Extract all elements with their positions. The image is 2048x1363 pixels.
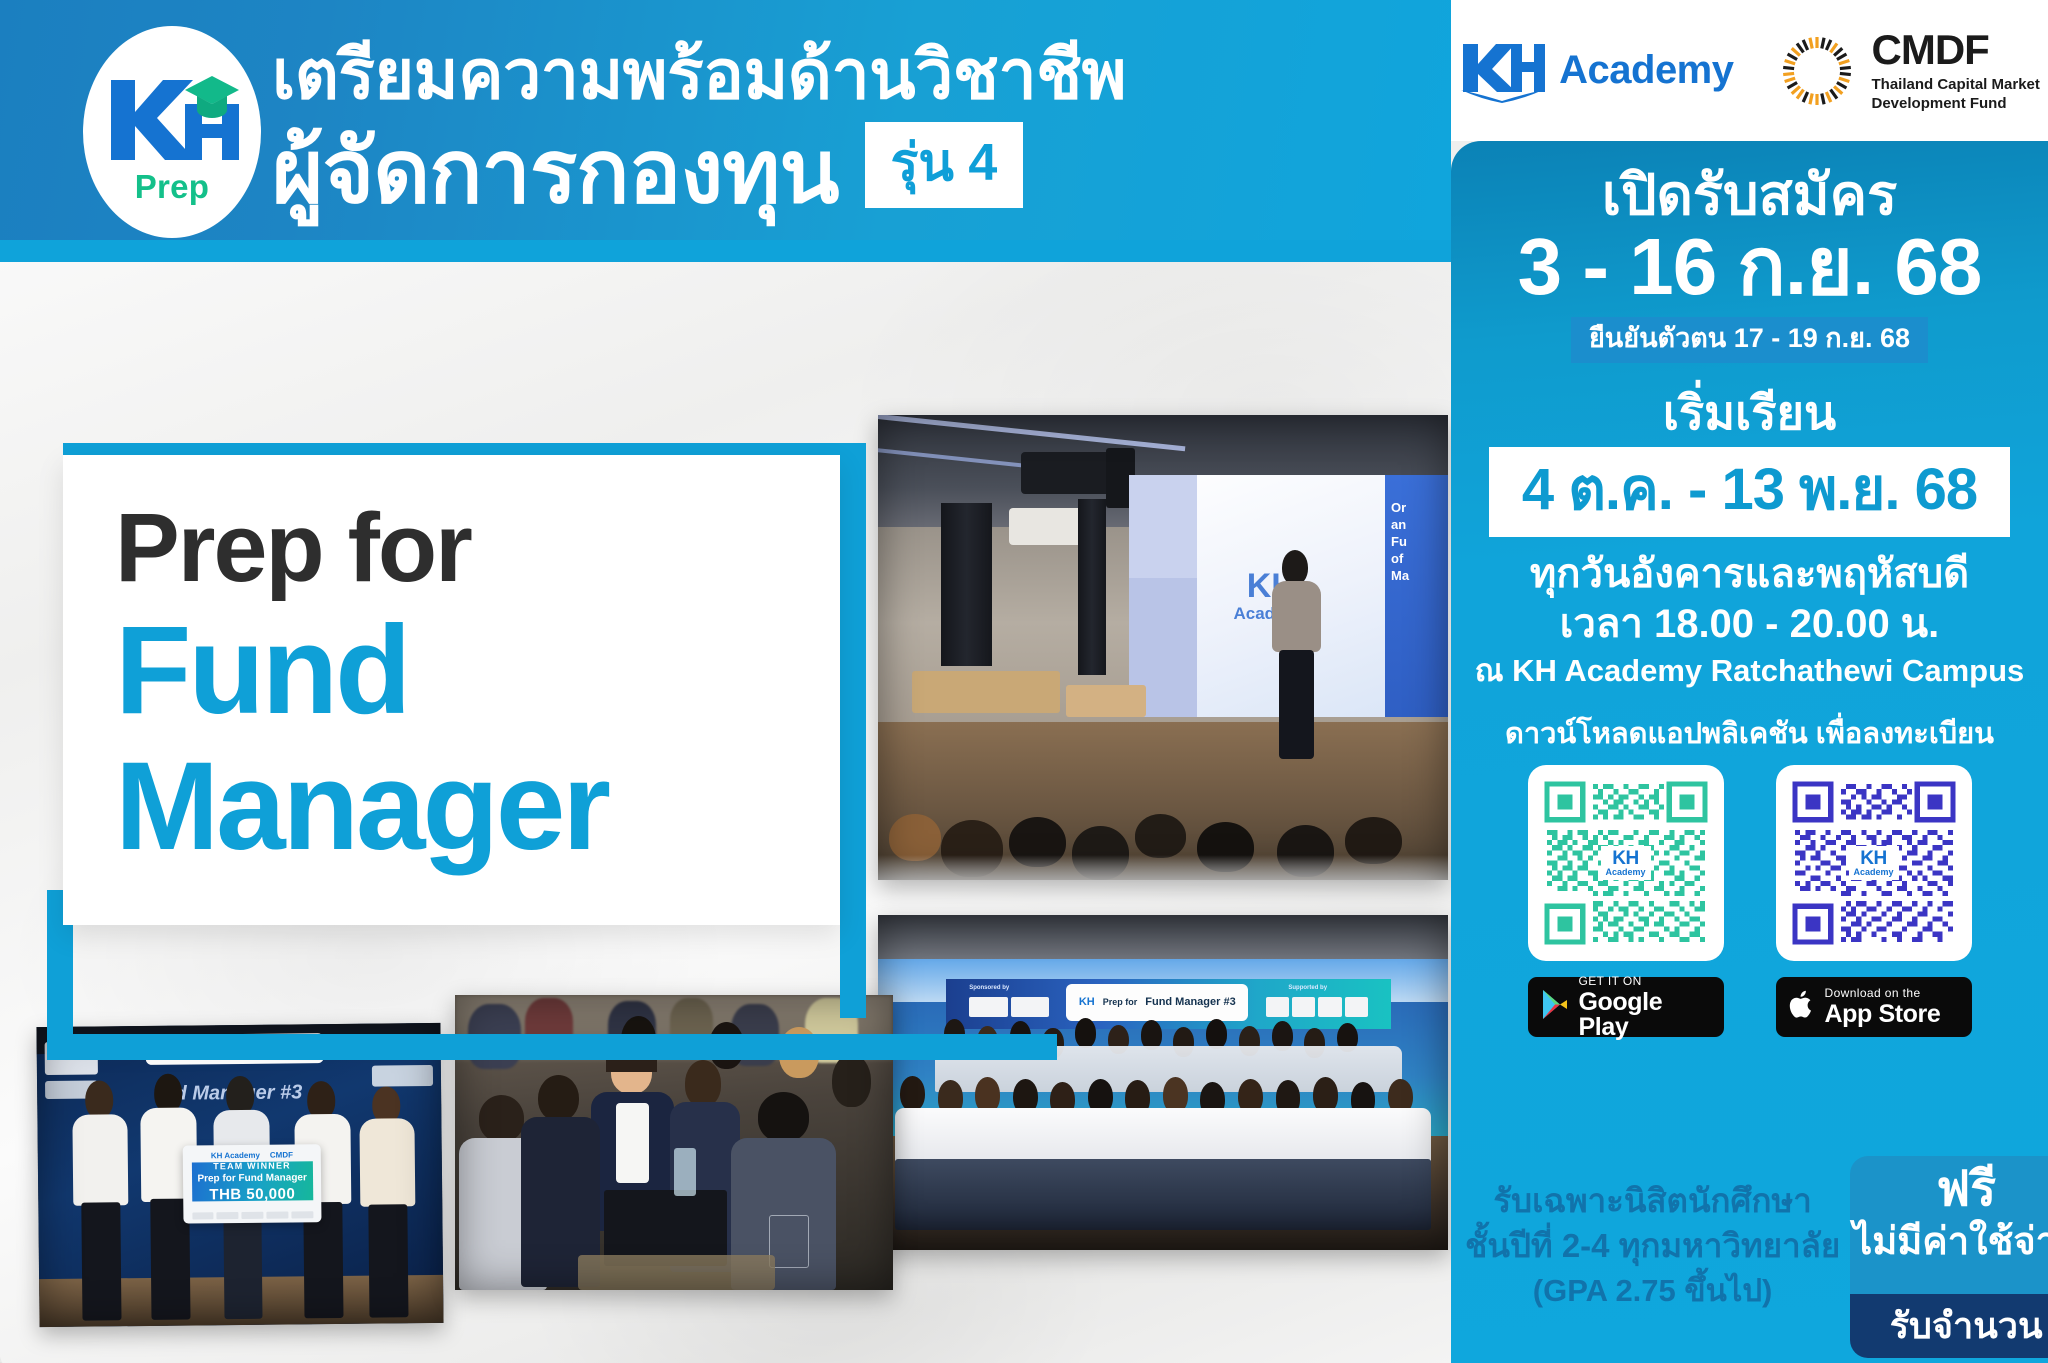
kh-prep-logo-word: Prep xyxy=(135,168,210,206)
cmdf-logo: CMDF Thailand Capital Market Development… xyxy=(1778,29,2040,113)
cmdf-subtitle-2: Development Fund xyxy=(1872,94,2040,113)
qr-apple-center-logo: KH Academy xyxy=(1848,846,1898,880)
eligibility-criteria: รับเฉพาะนิสิตนักศึกษา ชั้นปีที่ 2-4 ทุกม… xyxy=(1451,1146,1850,1363)
google-play-badge[interactable]: GET IT ON Google Play xyxy=(1528,977,1724,1037)
qr-code-row: KH Academy xyxy=(1469,765,2030,961)
poster-root: KH Academy Or an Fu of Ma xyxy=(0,0,2048,1363)
cheque-kh-logo: KH Academy xyxy=(211,1150,260,1160)
cheque-program-name: Prep for Fund Manager xyxy=(192,1172,313,1184)
registration-open-date: 3 - 16 ก.ย. 68 xyxy=(1469,223,2030,311)
kh-prep-logo: Prep xyxy=(83,26,261,238)
eligibility-strip: รับเฉพาะนิสิตนักศึกษา ชั้นปีที่ 2-4 ทุกม… xyxy=(1451,1146,2048,1363)
eligibility-line-1: รับเฉพาะนิสิตนักศึกษา xyxy=(1465,1178,1840,1223)
screen-text-4: of xyxy=(1391,550,1409,567)
cmdf-ring-icon xyxy=(1778,32,1856,110)
title-card: Prep for Fund Manager xyxy=(63,455,840,925)
google-play-small-label: GET IT ON xyxy=(1579,975,1711,987)
free-badge-group: ฟรี ไม่มีค่าใช้จ่าย รับจำนวนจำกัด xyxy=(1850,1146,2048,1363)
group-banner-sponsor: Sponsored by xyxy=(969,985,1009,991)
class-time: เวลา 18.00 - 20.00 น. xyxy=(1469,599,2030,649)
limited-seats-badge: รับจำนวนจำกัด xyxy=(1850,1294,2048,1358)
partner-logo-bar: Academy xyxy=(1451,0,2048,141)
title-card-accent-bottom xyxy=(47,1034,1057,1060)
cheque-cmdf-logo: CMDF xyxy=(270,1150,293,1159)
download-app-label: ดาวน์โหลดแอปพลิเคชัน เพื่อลงทะเบียน xyxy=(1469,715,2030,753)
screen-text-5: Ma xyxy=(1391,567,1409,584)
photo-classroom: KH Academy Or an Fu of Ma xyxy=(878,415,1448,880)
kh-academy-mark-icon xyxy=(1459,38,1545,104)
title-card-accent-right xyxy=(840,443,866,1018)
batch-badge: รุ่น 4 xyxy=(865,122,1024,208)
kh-logo-mark xyxy=(105,70,239,166)
kh-academy-wordmark: Academy xyxy=(1559,48,1733,93)
screen-text-1: Or xyxy=(1391,499,1409,516)
free-label: ฟรี xyxy=(1850,1162,2048,1218)
eligibility-line-2: ชั้นปีที่ 2-4 ทุกมหาวิทยาลัย xyxy=(1465,1223,1840,1268)
title-card-line-2: Fund xyxy=(115,603,840,739)
kh-academy-logo: Academy xyxy=(1459,38,1733,104)
free-badge: ฟรี ไม่มีค่าใช้จ่าย xyxy=(1850,1156,2048,1294)
qr-code-google-play[interactable]: KH Academy xyxy=(1528,765,1724,961)
screen-text-3: Fu xyxy=(1391,533,1409,550)
photo-group: KH Prep for Fund Manager #3 Sponsored by… xyxy=(878,915,1448,1250)
class-days: ทุกวันอังคารและพฤหัสบดี xyxy=(1469,549,2030,599)
class-start-label: เริ่มเรียน xyxy=(1469,385,2030,441)
qr-code-app-store[interactable]: KH Academy xyxy=(1776,765,1972,961)
group-banner-supported: Supported by xyxy=(1288,985,1327,991)
qr-google-center-logo: KH Academy xyxy=(1600,846,1650,880)
registration-open-label: เปิดรับสมัคร xyxy=(1469,163,2030,227)
class-venue: ณ KH Academy Ratchathewi Campus xyxy=(1469,651,2030,691)
screen-text-2: an xyxy=(1391,516,1409,533)
eligibility-gpa: (GPA 2.75 ขึ้นไป) xyxy=(1465,1268,1840,1313)
store-badge-row: GET IT ON Google Play Download on the Ap… xyxy=(1469,977,2030,1037)
app-store-badge[interactable]: Download on the App Store xyxy=(1776,977,1972,1037)
title-card-line-3: Manager xyxy=(115,739,840,875)
class-start-date: 4 ต.ค. - 13 พ.ย. 68 xyxy=(1489,447,2010,537)
no-cost-label: ไม่มีค่าใช้จ่าย xyxy=(1850,1218,2048,1266)
app-store-small-label: Download on the xyxy=(1825,987,1941,999)
google-play-label: Google Play xyxy=(1579,990,1711,1040)
title-card-line-1: Prep for xyxy=(115,493,840,603)
photo-winner: KH Academy CMDF d Manager #3 xyxy=(36,1023,443,1327)
identity-verification-note: ยืนยันตัวตน 17 - 19 ก.ย. 68 xyxy=(1571,317,1928,363)
header-accent-strip xyxy=(0,240,1451,262)
apple-icon xyxy=(1789,989,1815,1025)
google-play-icon xyxy=(1541,989,1569,1025)
header-title-group: เตรียมความพร้อมด้านวิชาชีพ ผู้จัดการกองท… xyxy=(272,34,1402,220)
app-store-label: App Store xyxy=(1825,1002,1941,1027)
winner-cheque: KH Academy CMDF TEAM WINNER Prep for Fun… xyxy=(183,1144,321,1223)
cmdf-wordmark: CMDF xyxy=(1872,29,2040,71)
header-title-line-1: เตรียมความพร้อมด้านวิชาชีพ xyxy=(272,34,1402,116)
cheque-award-label: TEAM WINNER xyxy=(192,1160,313,1171)
cheque-amount: THB 50,000 xyxy=(192,1185,313,1203)
cmdf-subtitle-1: Thailand Capital Market xyxy=(1872,75,2040,94)
header-title-line-2: ผู้จัดการกองทุน xyxy=(272,124,839,220)
